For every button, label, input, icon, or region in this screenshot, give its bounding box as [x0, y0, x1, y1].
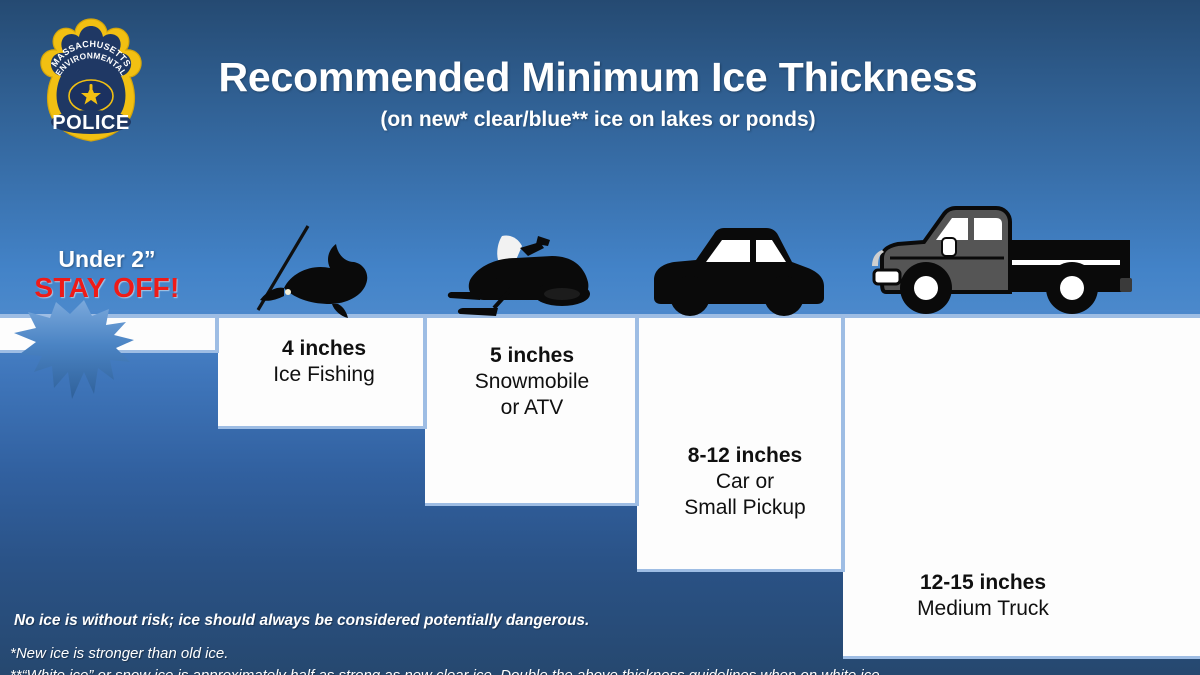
ice-thickness-infographic: MASSACHUSETTS ENVIRONMENTAL POLICE Recom… — [0, 0, 1200, 675]
footnote-white-ice: **“White ice” or snow ice is approximate… — [10, 667, 884, 675]
ice-riser-3 — [635, 318, 639, 505]
pickup-truck-icon — [864, 200, 1138, 318]
ice-tread-5 — [843, 656, 1200, 659]
ice-fishing-icon — [246, 222, 374, 318]
step-2-activity-1: Snowmobile — [432, 369, 632, 395]
broken-ice-hole-icon — [10, 300, 160, 400]
footnote-main: No ice is without risk; ice should alway… — [14, 612, 589, 630]
footnote-new-ice: *New ice is stronger than old ice. — [10, 645, 228, 662]
step-4-depth: 12-15 inches — [848, 570, 1118, 596]
ice-riser-2 — [423, 318, 427, 428]
snowmobile-icon — [444, 226, 606, 318]
badge-police-text: POLICE — [52, 112, 129, 134]
danger-warning-block: Under 2” STAY OFF! — [12, 247, 202, 304]
step-3-activity-2: Small Pickup — [642, 495, 848, 521]
step-label-8-12-inches: 8-12 inches Car or Small Pickup — [642, 443, 848, 520]
stay-off-warning: STAY OFF! — [12, 272, 202, 303]
page-title: Recommended Minimum Ice Thickness — [168, 56, 1028, 99]
ice-riser-1 — [215, 318, 219, 352]
step-label-12-15-inches: 12-15 inches Medium Truck — [848, 570, 1118, 622]
step-2-depth: 5 inches — [432, 343, 632, 369]
ice-tread-2 — [218, 426, 427, 429]
massachusetts-environmental-police-badge-icon: MASSACHUSETTS ENVIRONMENTAL POLICE — [30, 16, 152, 144]
step-label-5-inches: 5 inches Snowmobile or ATV — [432, 343, 632, 420]
step-2-activity-2: or ATV — [432, 395, 632, 421]
ice-tread-3 — [425, 503, 639, 506]
ice-tread-4 — [637, 569, 845, 572]
danger-depth-label: Under 2” — [12, 247, 202, 272]
car-icon — [644, 222, 836, 318]
step-3-activity-1: Car or — [642, 469, 848, 495]
step-1-activity: Ice Fishing — [228, 362, 420, 388]
step-4-activity: Medium Truck — [848, 596, 1118, 622]
step-label-4-inches: 4 inches Ice Fishing — [228, 336, 420, 388]
page-subtitle: (on new* clear/blue** ice on lakes or po… — [168, 108, 1028, 132]
step-1-depth: 4 inches — [228, 336, 420, 362]
step-3-depth: 8-12 inches — [642, 443, 848, 469]
